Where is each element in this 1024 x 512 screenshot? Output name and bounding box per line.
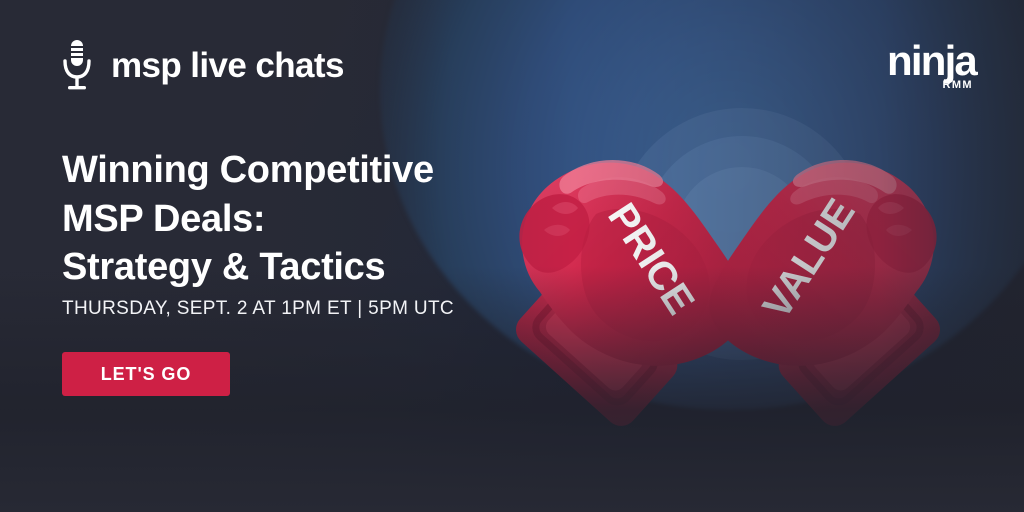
webinar-promo-banner: PRICE [0, 0, 1024, 512]
headline-line-2: MSP Deals: [62, 195, 532, 244]
page-title: Winning Competitive MSP Deals: Strategy … [62, 146, 532, 292]
headline-line-1: Winning Competitive [62, 146, 532, 195]
ninja-wordmark: ninja [887, 40, 976, 82]
headline-line-3: Strategy & Tactics [62, 243, 532, 292]
ninjarmm-logo[interactable]: ninja RMM [887, 40, 976, 91]
microphone-icon [60, 38, 94, 92]
brand-name: msp live chats [111, 48, 344, 83]
lets-go-button[interactable]: LET'S GO [62, 352, 230, 396]
event-datetime: THURSDAY, SEPT. 2 AT 1PM ET | 5PM UTC [62, 298, 454, 320]
brand-lockup: msp live chats [60, 38, 344, 92]
